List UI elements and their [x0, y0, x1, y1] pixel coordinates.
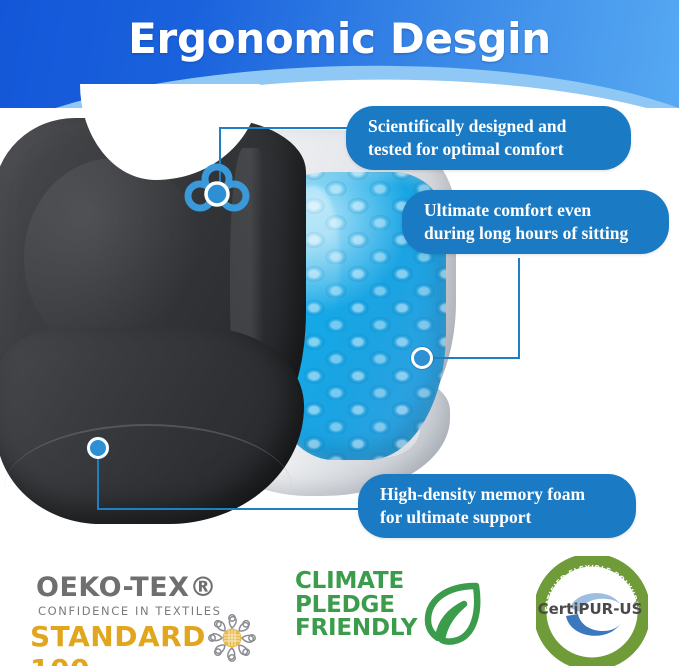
certipur-trademark: ®	[633, 601, 639, 608]
climate-pledge-line1: CLIMATE	[295, 570, 417, 594]
three-circle-cluster-icon	[181, 163, 253, 219]
climate-pledge-text: CLIMATE PLEDGE FRIENDLY	[295, 570, 417, 641]
certipur-center-text: CertiPUR-US	[538, 600, 643, 618]
connector-callout-2-vertical	[518, 258, 520, 358]
callout-memory-foam-line2: for ultimate support	[380, 507, 531, 527]
oeko-tex-title: OEKO-TEX®	[36, 572, 217, 603]
product-infographic: Ergonomic Desgin	[0, 0, 679, 666]
callout-scientific-line1: Scientifically designed and	[368, 116, 566, 136]
climate-pledge-line2: PLEDGE	[295, 594, 417, 618]
page-title: Ergonomic Desgin	[0, 14, 679, 63]
callout-scientific[interactable]: Scientifically designed and tested for o…	[346, 106, 631, 170]
callout-comfort-line2: during long hours of sitting	[424, 223, 628, 243]
callout-comfort[interactable]: Ultimate comfort even during long hours …	[402, 190, 669, 254]
callout-memory-foam-line1: High-density memory foam	[380, 484, 585, 504]
callout-scientific-line2: tested for optimal comfort	[368, 139, 564, 159]
certipur-us-badge: CONTAINS CERTIFIED FLEXIBLE POLYURETHANE…	[536, 556, 648, 666]
oeko-tex-badge: OEKO-TEX® CONFIDENCE IN TEXTILES STANDAR…	[36, 568, 266, 660]
connector-callout-1-horizontal	[219, 127, 361, 129]
certification-badges: OEKO-TEX® CONFIDENCE IN TEXTILES STANDAR…	[0, 556, 679, 666]
marker-dot-gel	[411, 347, 433, 369]
oeko-tex-subtitle: CONFIDENCE IN TEXTILES	[38, 604, 222, 618]
climate-pledge-line3: FRIENDLY	[295, 617, 417, 641]
climate-pledge-friendly-badge: CLIMATE PLEDGE FRIENDLY	[295, 570, 480, 656]
callout-memory-foam[interactable]: High-density memory foam for ultimate su…	[358, 474, 636, 538]
rosette-flower-icon	[204, 610, 260, 666]
leaf-icon	[414, 576, 488, 650]
marker-dot-foam	[87, 437, 109, 459]
connector-callout-2-horizontal	[432, 357, 520, 359]
memory-foam-cover	[0, 118, 314, 526]
callout-comfort-line1: Ultimate comfort even	[424, 200, 591, 220]
connector-callout-3-horizontal	[97, 508, 365, 510]
connector-callout-3-vertical	[97, 458, 99, 510]
